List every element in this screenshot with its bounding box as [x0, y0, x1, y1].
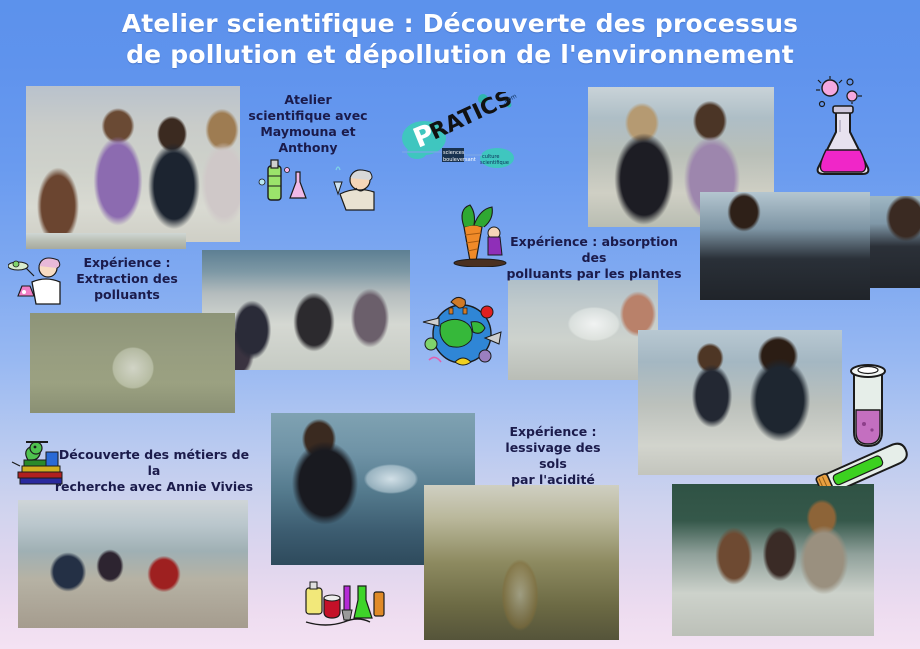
photo-writing-desk [672, 484, 874, 636]
caption-absorption: Expérience : absorption des polluants pa… [496, 234, 692, 282]
caption-leaching: Expérience : lessivage des sols par l'ac… [490, 424, 616, 488]
caption-extraction: Expérience : Extraction des polluants [62, 255, 192, 303]
photo-classroom-talk [18, 500, 248, 628]
flask-clipart [800, 76, 886, 180]
svg-text:scientifique: scientifique [480, 160, 509, 166]
photo-strip-left [26, 233, 186, 249]
test-tubes-clipart [806, 358, 914, 486]
alchemist-clipart [330, 160, 386, 212]
caption-workshop: Atelier scientifique avec Maymouna et An… [248, 92, 368, 156]
green-bottle-clipart [256, 158, 322, 208]
page-title-line1: Atelier scientifique : Découverte des pr… [0, 8, 920, 39]
page-title: Atelier scientifique : Découverte des pr… [0, 8, 920, 70]
photo-man-right [866, 196, 920, 288]
glassware-clipart [300, 578, 388, 628]
svg-text:sciences: sciences [443, 150, 465, 156]
photo-petri-dish [30, 313, 235, 413]
svg-text:bouleversant: bouleversant [443, 157, 476, 163]
bookworm-clipart [10, 434, 68, 490]
pratics-logo: P RATICS .com sciences bouleversant cult… [396, 92, 526, 174]
chemist-clipart [8, 252, 70, 306]
photo-man-small [700, 192, 870, 300]
caption-careers: Découverte des métiers de la recherche a… [54, 447, 254, 495]
poster-root: Atelier scientifique : Découverte des pr… [0, 0, 920, 649]
photo-gloved-hands [508, 280, 658, 380]
photo-soil-beaker [424, 485, 619, 640]
page-title-line2: de pollution et dépollution de l'environ… [0, 39, 920, 70]
globe-clipart [419, 288, 505, 374]
carrot-clipart [450, 203, 518, 267]
photo-students-bench [26, 86, 240, 242]
